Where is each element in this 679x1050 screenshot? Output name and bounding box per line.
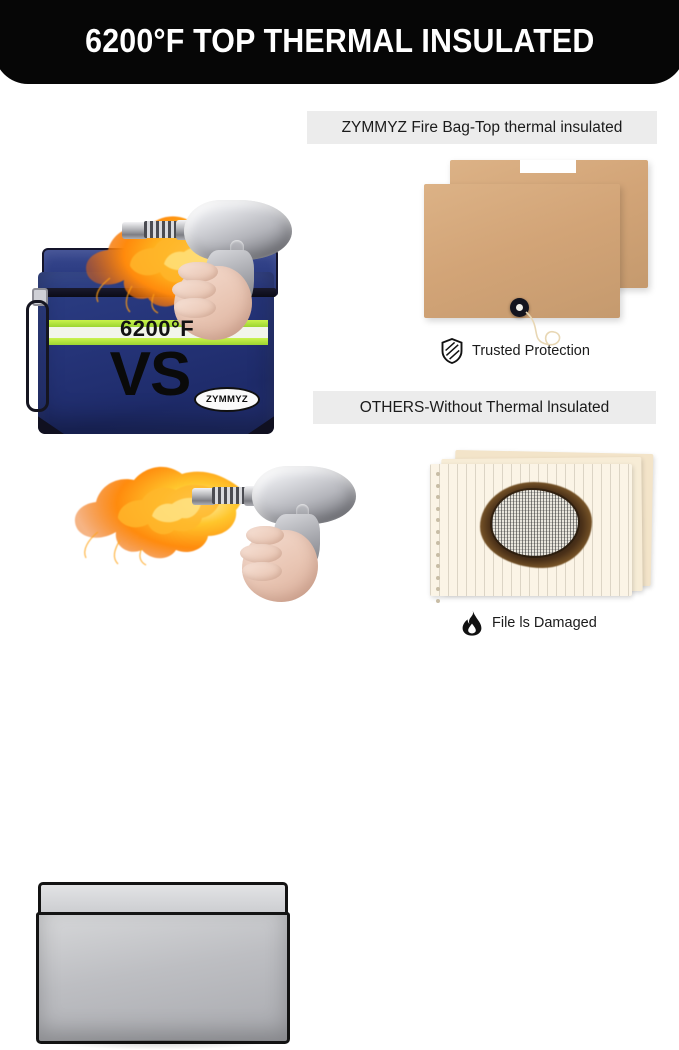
file-damaged-claim: File ls Damaged <box>461 610 597 636</box>
file-damaged-label: File ls Damaged <box>492 615 597 631</box>
good-product-photo: 6200°F ZYMMYZ <box>0 96 300 336</box>
page-title: 6200°F TOP THERMAL INSULATED <box>85 22 594 84</box>
brand-logo-badge: ZYMMYZ <box>194 387 260 412</box>
good-caption-bar: ZYMMYZ Fire Bag-Top thermal insulated <box>307 111 657 144</box>
kraft-envelope-front <box>424 184 620 318</box>
bad-product-photo <box>0 430 300 630</box>
envelope-notch <box>520 160 576 173</box>
trusted-protection-claim: Trusted Protection <box>441 338 590 364</box>
others-bag-shadow <box>42 1040 278 1050</box>
header-banner: 6200°F TOP THERMAL INSULATED <box>0 0 679 84</box>
bad-caption-bar: OTHERS-Without Thermal lnsulated <box>313 391 656 424</box>
burnt-newspaper-fragment <box>492 490 578 556</box>
flame-icon <box>461 610 483 636</box>
others-bag-body <box>36 912 290 1044</box>
others-fire-bag <box>32 882 288 1042</box>
damaged-documents-photo <box>424 452 660 602</box>
shield-icon <box>441 338 463 364</box>
bad-caption-text: OTHERS-Without Thermal lnsulated <box>360 399 610 417</box>
bag-temperature-label: 6200°F <box>120 316 194 342</box>
brand-logo-text: ZYMMYZ <box>206 394 248 405</box>
trusted-protection-label: Trusted Protection <box>472 343 590 359</box>
butane-torch-bottom <box>192 454 372 604</box>
binder-holes <box>436 472 442 590</box>
good-caption-text: ZYMMYZ Fire Bag-Top thermal insulated <box>342 119 623 137</box>
intact-documents-photo <box>424 160 656 326</box>
